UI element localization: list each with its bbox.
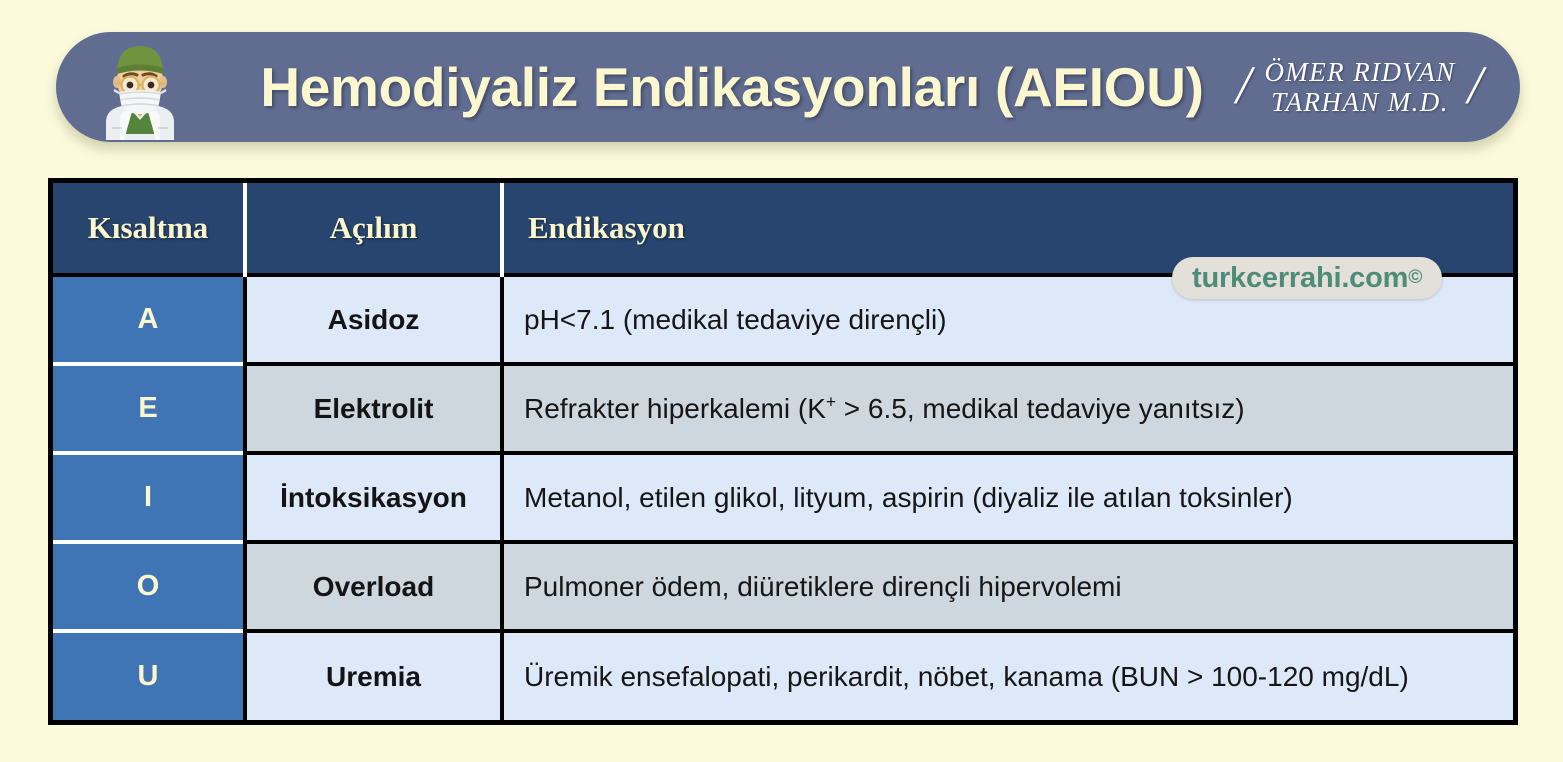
cell-abbreviation: E	[53, 364, 245, 453]
cell-abbreviation: I	[53, 453, 245, 542]
cell-expansion: İntoksikasyon	[245, 453, 502, 542]
column-header-abbreviation: Kısaltma	[53, 183, 245, 275]
author-signature: / ÖMER RIDVAN TARHAN M.D. /	[1236, 57, 1484, 117]
indication-text-post: > 6.5, medikal tedaviye yanıtsız)	[836, 393, 1245, 424]
header-banner: Hemodiyaliz Endikasyonları (AEIOU) / ÖME…	[56, 32, 1520, 142]
site-watermark: turkcerrahi.com©	[1172, 257, 1442, 299]
indication-text-pre: Metanol, etilen glikol, lityum, aspirin …	[524, 482, 1293, 513]
indication-text-pre: Pulmoner ödem, diüretiklere dirençli hip…	[524, 571, 1122, 602]
signature-line-1: ÖMER RIDVAN	[1264, 57, 1455, 87]
indication-superscript: +	[826, 391, 836, 411]
table-row: I İntoksikasyon Metanol, etilen glikol, …	[53, 453, 1513, 542]
indication-text-pre: Refrakter hiperkalemi (K	[524, 393, 826, 424]
cell-abbreviation: O	[53, 542, 245, 631]
surgeon-avatar-icon	[86, 36, 194, 140]
cell-expansion: Asidoz	[245, 275, 502, 364]
cell-expansion: Uremia	[245, 631, 502, 720]
page-title: Hemodiyaliz Endikasyonları (AEIOU)	[232, 32, 1232, 142]
cell-expansion: Elektrolit	[245, 364, 502, 453]
cell-indication: Metanol, etilen glikol, lityum, aspirin …	[502, 453, 1513, 542]
indication-text-pre: Üremik ensefalopati, perikardit, nöbet, …	[524, 661, 1409, 692]
watermark-text: turkcerrahi.com	[1192, 262, 1408, 295]
signature-slash-left: /	[1236, 58, 1252, 112]
table-body: A Asidoz pH<7.1 (medikal tedaviye direnç…	[53, 275, 1513, 720]
column-header-expansion: Açılım	[245, 183, 502, 275]
cell-abbreviation: A	[53, 275, 245, 364]
cell-indication: Refrakter hiperkalemi (K+ > 6.5, medikal…	[502, 364, 1513, 453]
cell-expansion: Overload	[245, 542, 502, 631]
indication-text-pre: pH<7.1 (medikal tedaviye dirençli)	[524, 304, 947, 335]
cell-indication: Pulmoner ödem, diüretiklere dirençli hip…	[502, 542, 1513, 631]
cell-indication: Üremik ensefalopati, perikardit, nöbet, …	[502, 631, 1513, 720]
signature-line-2: TARHAN M.D.	[1271, 87, 1449, 117]
cell-abbreviation: U	[53, 631, 245, 720]
table-row: U Uremia Üremik ensefalopati, perikardit…	[53, 631, 1513, 720]
table-row: E Elektrolit Refrakter hiperkalemi (K+ >…	[53, 364, 1513, 453]
table-row: O Overload Pulmoner ödem, diüretiklere d…	[53, 542, 1513, 631]
signature-slash-right: /	[1468, 58, 1484, 112]
